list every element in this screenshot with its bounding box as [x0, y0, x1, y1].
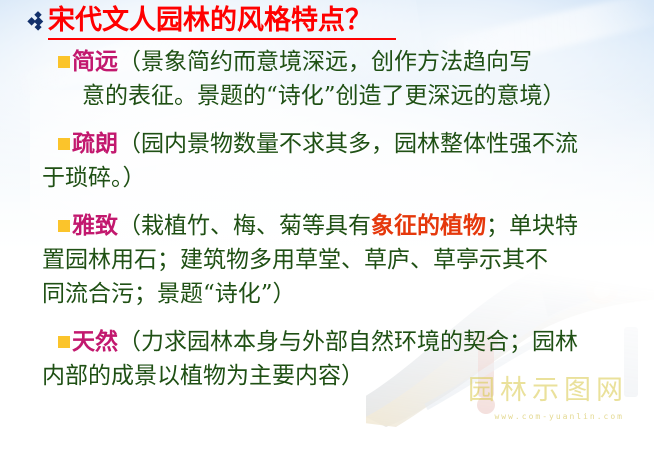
highlighted-text: 象征的植物: [371, 212, 486, 239]
page-title: 宋代文人园林的风格特点？: [48, 6, 396, 40]
list-item: 天然（力求园林本身与外部自然环境的契合；园林 内部的成景以植物为主要内容）: [0, 325, 654, 393]
bullet-headword: 雅致: [72, 212, 118, 239]
bullet-text: 同流合污；景题“诗化”）: [42, 281, 296, 307]
bullet-text: 意的表征。景题的“诗化”创造了更深远的意境）: [82, 83, 566, 109]
bullet-headword: 天然: [72, 328, 118, 355]
gold-square-bullet-icon: [58, 220, 70, 232]
bullet-line: 同流合污；景题“诗化”）: [42, 277, 654, 311]
bullet-line: 意的表征。景题的“诗化”创造了更深远的意境）: [58, 79, 654, 113]
bullet-line: 天然（力求园林本身与外部自然环境的契合；园林: [58, 325, 654, 359]
list-item: 疏朗（园内景物数量不求其多，园林整体性强不流 于琐碎。）: [0, 127, 654, 195]
gold-square-bullet-icon: [58, 336, 70, 348]
bullet-list: 简远（景象简约而意境深远，创作方法趋向写 意的表征。景题的“诗化”创造了更深远的…: [0, 45, 654, 393]
slide-title-row: 宋代文人园林的风格特点？: [26, 6, 396, 40]
bullet-line: 置园林用石；建筑物多用草堂、草庐、草亭示其不: [42, 243, 654, 277]
slide-content: 宋代文人园林的风格特点？ 简远（景象简约而意境深远，创作方法趋向写 意的表征。景…: [0, 0, 654, 465]
bullet-text: （栽植竹、梅、菊等具有: [118, 213, 371, 239]
slide-canvas: 园林示图网 www.com-yuanlin.com 宋代文人园林的风格特点？: [0, 0, 654, 465]
bullet-headword: 简远: [72, 48, 118, 75]
diamond-cluster-bullet-icon: [26, 10, 48, 40]
bullet-text: （景象简约而意境深远，创作方法趋向写: [118, 49, 532, 75]
bullet-text: 置园林用石；建筑物多用草堂、草庐、草亭示其不: [42, 247, 548, 273]
bullet-text: （园内景物数量不求其多，园林整体性强不流: [118, 131, 578, 157]
bullet-text: 于琐碎。）: [42, 165, 146, 191]
gold-square-bullet-icon: [58, 56, 70, 68]
bullet-line: 于琐碎。）: [42, 161, 654, 195]
bullet-headword: 疏朗: [72, 130, 118, 157]
gold-square-bullet-icon: [58, 138, 70, 150]
list-item: 简远（景象简约而意境深远，创作方法趋向写 意的表征。景题的“诗化”创造了更深远的…: [0, 45, 654, 113]
bullet-line: 简远（景象简约而意境深远，创作方法趋向写: [58, 45, 654, 79]
bullet-text: ；单块特: [486, 213, 578, 239]
bullet-text: （力求园林本身与外部自然环境的契合；园林: [118, 329, 578, 355]
bullet-line: 内部的成景以植物为主要内容）: [42, 359, 654, 393]
bullet-line: 疏朗（园内景物数量不求其多，园林整体性强不流: [58, 127, 654, 161]
bullet-line: 雅致（栽植竹、梅、菊等具有象征的植物；单块特: [58, 209, 654, 243]
bullet-text: 内部的成景以植物为主要内容）: [42, 363, 364, 389]
list-item: 雅致（栽植竹、梅、菊等具有象征的植物；单块特 置园林用石；建筑物多用草堂、草庐、…: [0, 209, 654, 311]
